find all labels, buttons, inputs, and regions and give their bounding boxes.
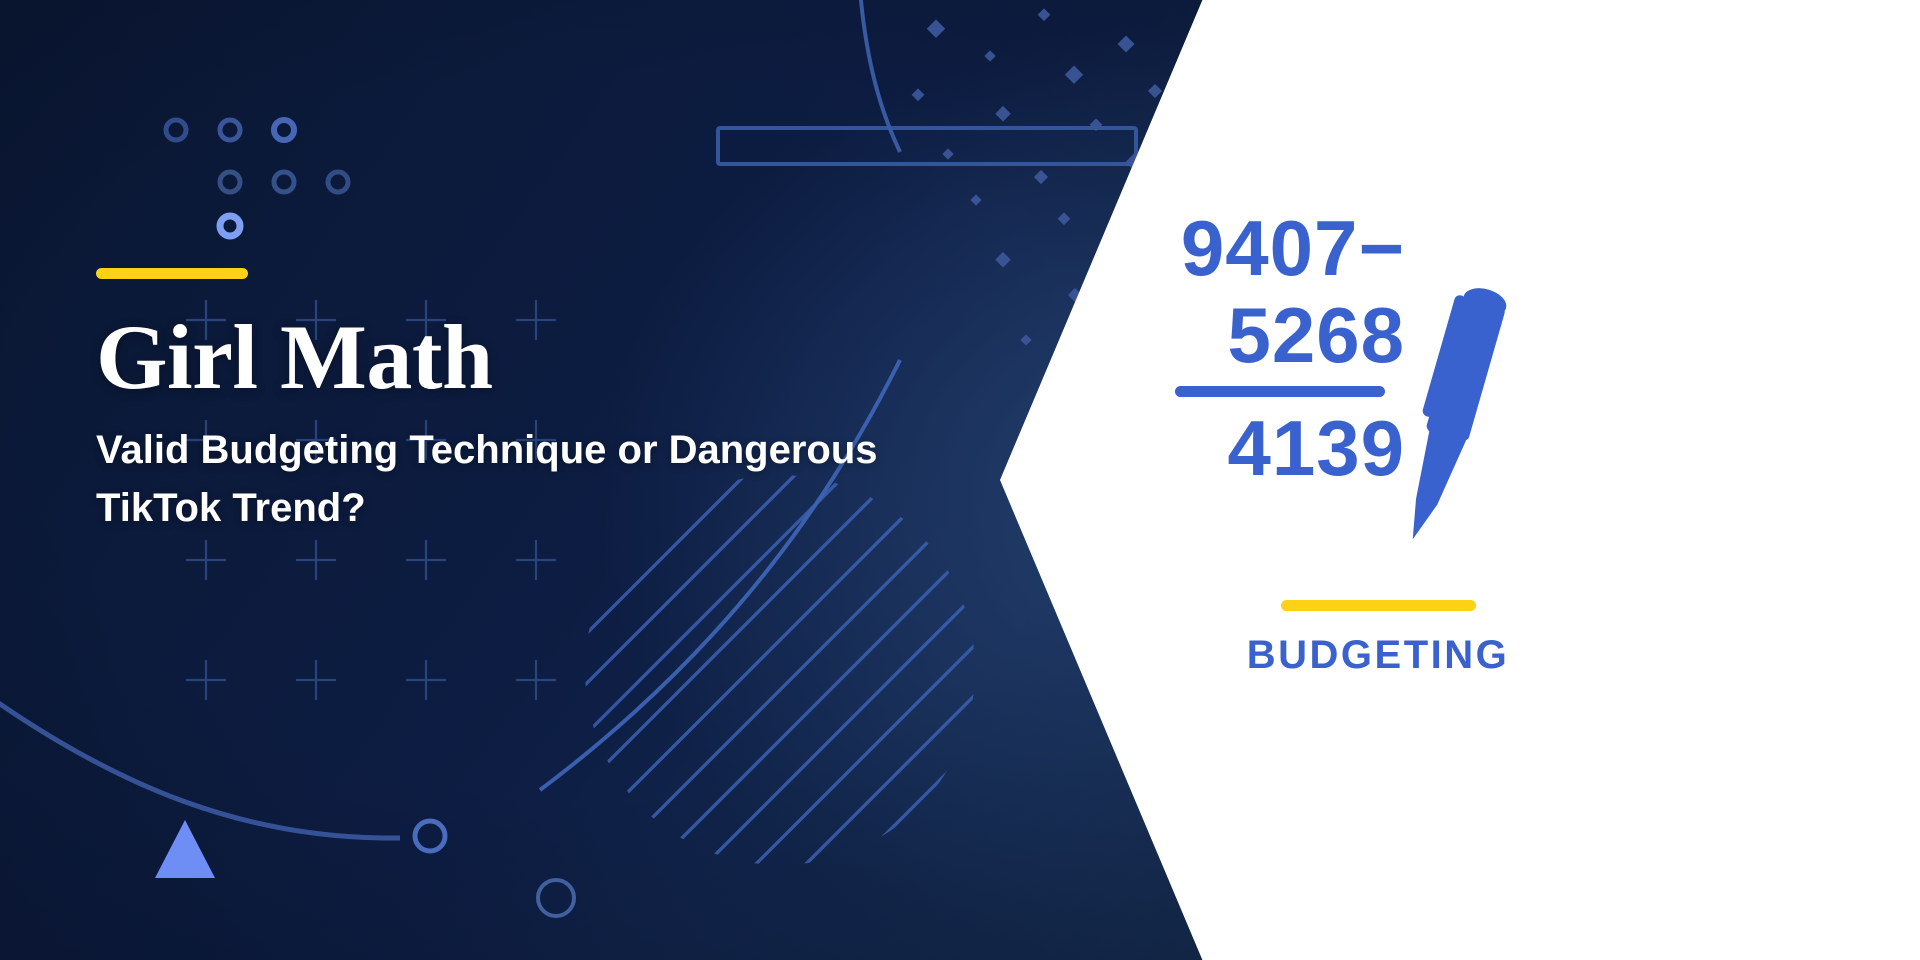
subtitle-line-1: Valid Budgeting Technique or Dangerous [96,421,976,479]
banner-root: Girl Math Valid Budgeting Technique or D… [0,0,1920,960]
math-result: 4139 [1175,405,1405,492]
math-rule [1175,386,1385,397]
accent-bar [96,268,248,279]
math-minuend: 9407− [1175,205,1405,292]
label-bar [1281,600,1476,611]
math-subtrahend: 5268 [1175,292,1405,379]
pen-icon [1380,260,1530,560]
page-title: Girl Math [96,311,976,403]
headline-block: Girl Math Valid Budgeting Technique or D… [96,268,976,537]
subtraction-block: 9407− 5268 4139 [1175,205,1405,492]
budgeting-label-block: BUDGETING [1243,600,1513,678]
math-illustration: 9407− 5268 4139 [1175,205,1575,625]
budgeting-label: BUDGETING [1243,633,1513,678]
subtitle-line-2: TikTok Trend? [96,479,976,537]
